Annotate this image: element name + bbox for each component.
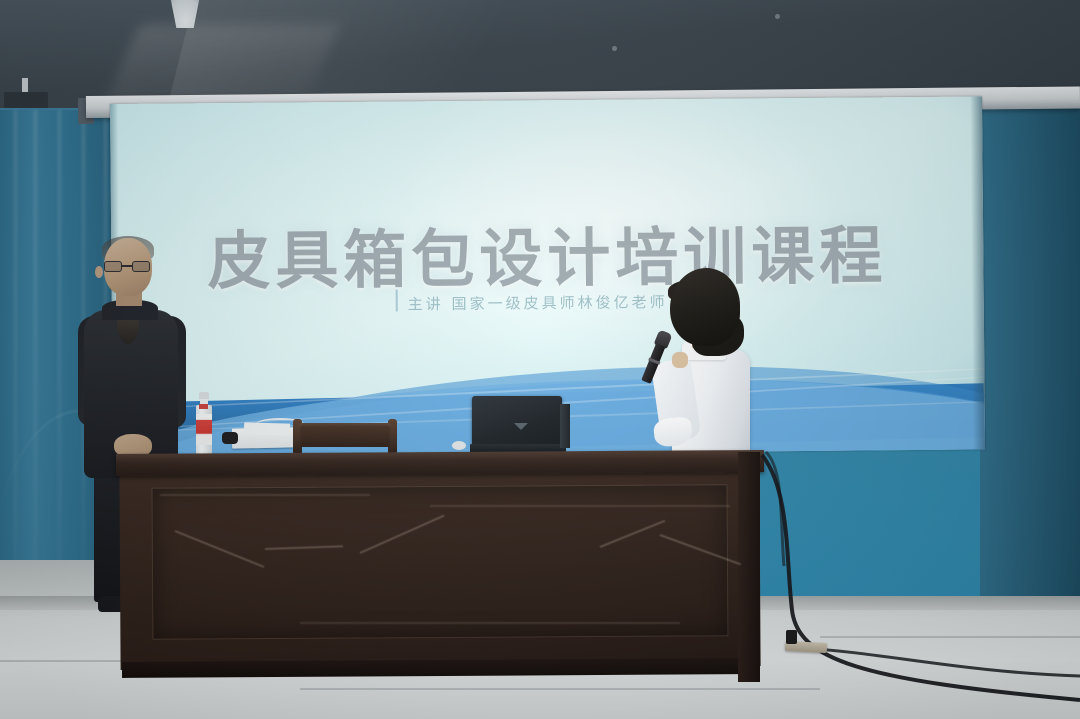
- glasses-lens-1: [104, 261, 122, 272]
- slide-subtitle: 主讲 国家一级皮具师林俊亿老师: [408, 290, 828, 315]
- laptop-lid: [472, 396, 562, 446]
- bottle-tab: [199, 404, 208, 409]
- desk-front-panel: [119, 468, 760, 670]
- ceiling-dot-2: [612, 46, 617, 51]
- desk-surface: [116, 450, 764, 476]
- slide-title: 皮具箱包设计培训课程: [207, 204, 985, 302]
- bottle-cap: [199, 392, 209, 399]
- desk-plinth: [122, 658, 758, 678]
- man-ear: [95, 266, 103, 278]
- ceiling-dot-1: [775, 14, 780, 19]
- water-bottle: [196, 392, 212, 454]
- computer-mouse: [452, 441, 466, 450]
- floor-seam-3: [820, 636, 1080, 638]
- desk-highlight-2: [430, 505, 730, 507]
- laptop-logo-icon: [514, 423, 528, 430]
- laptop: [470, 396, 566, 454]
- small-black-object: [222, 432, 238, 444]
- papers-top-sheet: [244, 422, 290, 435]
- bottle-label: [196, 414, 212, 445]
- laptop-riser: [560, 404, 570, 448]
- floor-seam-2: [300, 688, 820, 690]
- back-wall-right: [980, 108, 1080, 620]
- woman-hair: [670, 268, 740, 346]
- chair: [293, 419, 397, 455]
- glasses-icon: [104, 261, 150, 272]
- chair-backrest: [299, 423, 391, 447]
- podium-desk: [120, 452, 760, 680]
- power-plug: [786, 630, 797, 644]
- desk-highlight-1: [160, 494, 370, 496]
- desk-inset-panel: [151, 484, 728, 640]
- glasses-lens-2: [132, 261, 150, 272]
- subtitle-rule-left: [396, 289, 398, 311]
- desk-highlight-3: [300, 622, 680, 624]
- photo-scene: 皮具箱包设计培训课程 主讲 国家一级皮具师林俊亿老师: [0, 0, 1080, 719]
- glasses-bridge: [122, 265, 132, 267]
- woman-hand: [672, 352, 688, 368]
- desk-right-side: [738, 452, 760, 682]
